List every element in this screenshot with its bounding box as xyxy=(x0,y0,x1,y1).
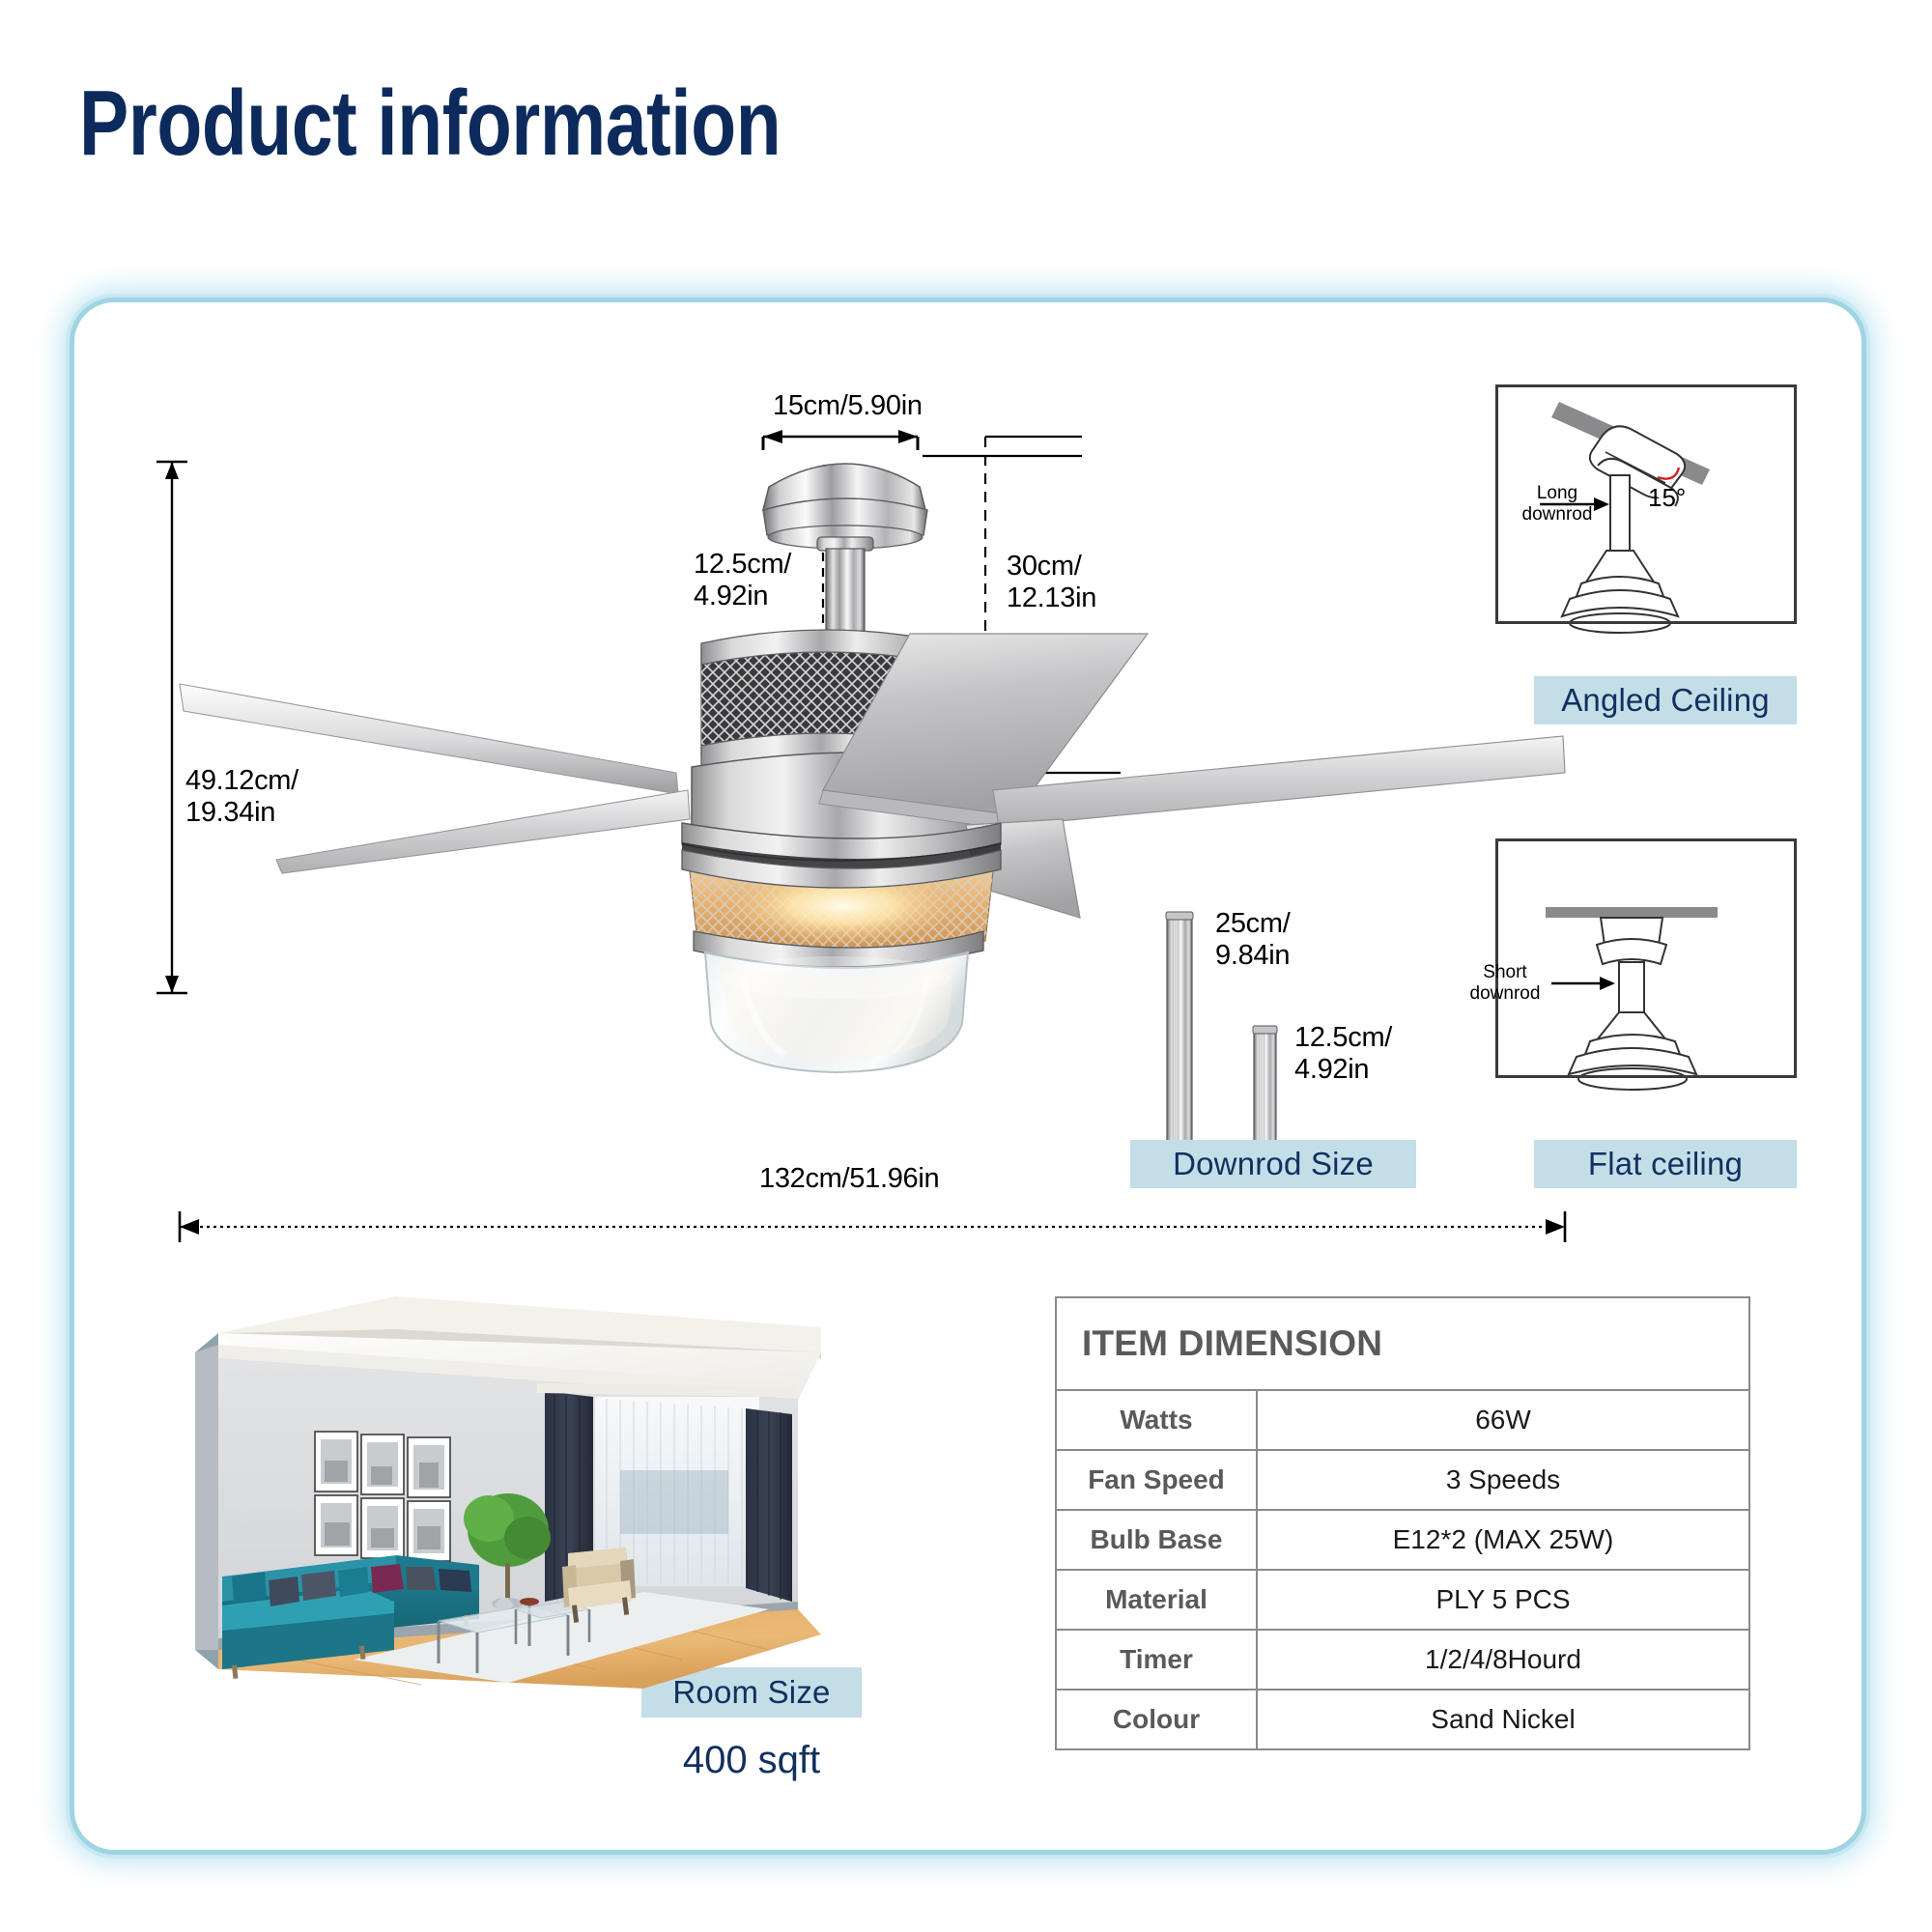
page-title: Product information xyxy=(79,75,781,173)
table-row: Watts 66W xyxy=(1056,1390,1749,1450)
row-val-colour: Sand Nickel xyxy=(1257,1690,1749,1749)
downrod-drop-label: 12.5cm/ 4.92in xyxy=(694,549,791,612)
row-key-colour: Colour xyxy=(1056,1690,1257,1749)
item-dimension-header: ITEM DIMENSION xyxy=(1056,1297,1749,1390)
room-illustration xyxy=(189,1291,827,1689)
row-key-timer: Timer xyxy=(1056,1630,1257,1690)
badge-angled-ceiling: Angled Ceiling xyxy=(1534,676,1797,724)
row-key-watts: Watts xyxy=(1056,1390,1257,1450)
overall-height-label: 49.12cm/ 19.34in xyxy=(185,765,298,829)
table-row: Bulb Base E12*2 (MAX 25W) xyxy=(1056,1510,1749,1570)
row-key-fan-speed: Fan Speed xyxy=(1056,1450,1257,1510)
item-dimension-table: ITEM DIMENSION Watts 66W Fan Speed 3 Spe… xyxy=(1055,1296,1750,1750)
canopy-width-label: 15cm/5.90in xyxy=(773,390,923,422)
row-val-fan-speed: 3 Speeds xyxy=(1257,1450,1749,1510)
row-key-material: Material xyxy=(1056,1570,1257,1630)
blade-to-ceiling-label: 30cm/ 12.13in xyxy=(1007,551,1096,614)
ceiling-angle-label: 15° xyxy=(1648,483,1686,513)
long-downrod-size-label: 25cm/ 9.84in xyxy=(1215,908,1290,972)
room-size-value: 400 sqft xyxy=(641,1739,862,1782)
table-row: Fan Speed 3 Speeds xyxy=(1056,1450,1749,1510)
row-val-material: PLY 5 PCS xyxy=(1257,1570,1749,1630)
overall-width-label: 132cm/51.96in xyxy=(759,1163,939,1195)
table-row: Colour Sand Nickel xyxy=(1056,1690,1749,1749)
product-information-page: Product information xyxy=(0,0,1932,1932)
table-header-row: ITEM DIMENSION xyxy=(1056,1297,1749,1390)
long-downrod-callout-label: Long downrod xyxy=(1513,483,1602,526)
badge-downrod-size: Downrod Size xyxy=(1130,1140,1416,1188)
short-downrod-size-label: 12.5cm/ 4.92in xyxy=(1294,1022,1392,1086)
short-downrod-callout-label: Short downrod xyxy=(1457,962,1553,1005)
row-key-bulb-base: Bulb Base xyxy=(1056,1510,1257,1570)
row-val-timer: 1/2/4/8Hourd xyxy=(1257,1630,1749,1690)
flat-ceiling-inset-box xyxy=(1495,838,1797,1078)
row-val-bulb-base: E12*2 (MAX 25W) xyxy=(1257,1510,1749,1570)
row-val-watts: 66W xyxy=(1257,1390,1749,1450)
badge-flat-ceiling: Flat ceiling xyxy=(1534,1140,1797,1188)
table-row: Material PLY 5 PCS xyxy=(1056,1570,1749,1630)
table-row: Timer 1/2/4/8Hourd xyxy=(1056,1630,1749,1690)
